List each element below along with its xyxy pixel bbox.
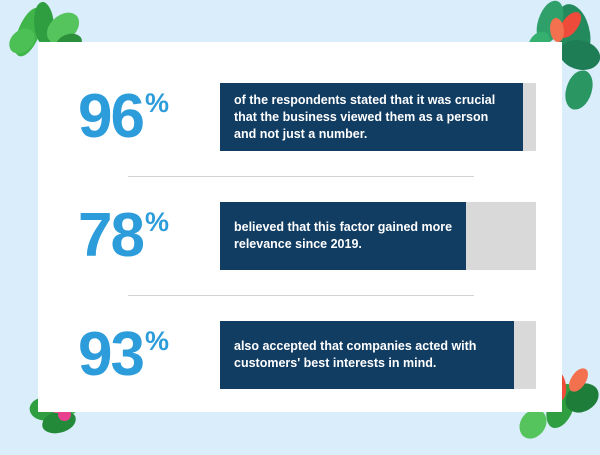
- divider: [128, 176, 474, 177]
- percent-sign: %: [145, 90, 168, 117]
- percent-sign: %: [145, 209, 168, 236]
- stat-row: 93 % also accepted that companies acted …: [78, 308, 536, 402]
- stat-bar: believed that this factor gained more re…: [220, 202, 536, 270]
- stat-percentage: 93 %: [78, 324, 220, 386]
- stat-description: of the respondents stated that it was cr…: [220, 92, 520, 143]
- stat-bar-fill: also accepted that companies acted with …: [220, 321, 514, 389]
- stat-number: 93: [78, 324, 143, 386]
- infographic-page: 96 % of the respondents stated that it w…: [0, 0, 600, 455]
- stats-card: 96 % of the respondents stated that it w…: [38, 42, 562, 412]
- stat-percentage: 96 %: [78, 86, 220, 148]
- stat-bar: of the respondents stated that it was cr…: [220, 83, 536, 151]
- percent-sign: %: [145, 328, 168, 355]
- stat-bar-fill: of the respondents stated that it was cr…: [220, 83, 523, 151]
- stat-percentage: 78 %: [78, 205, 220, 267]
- stat-row: 96 % of the respondents stated that it w…: [78, 70, 536, 164]
- divider: [128, 295, 474, 296]
- stat-bar: also accepted that companies acted with …: [220, 321, 536, 389]
- stat-row: 78 % believed that this factor gained mo…: [78, 189, 536, 283]
- stat-description: also accepted that companies acted with …: [220, 338, 514, 372]
- stat-description: believed that this factor gained more re…: [220, 219, 466, 253]
- stat-number: 96: [78, 86, 143, 148]
- leaf-icon: [563, 68, 594, 111]
- stat-number: 78: [78, 205, 143, 267]
- stat-bar-fill: believed that this factor gained more re…: [220, 202, 466, 270]
